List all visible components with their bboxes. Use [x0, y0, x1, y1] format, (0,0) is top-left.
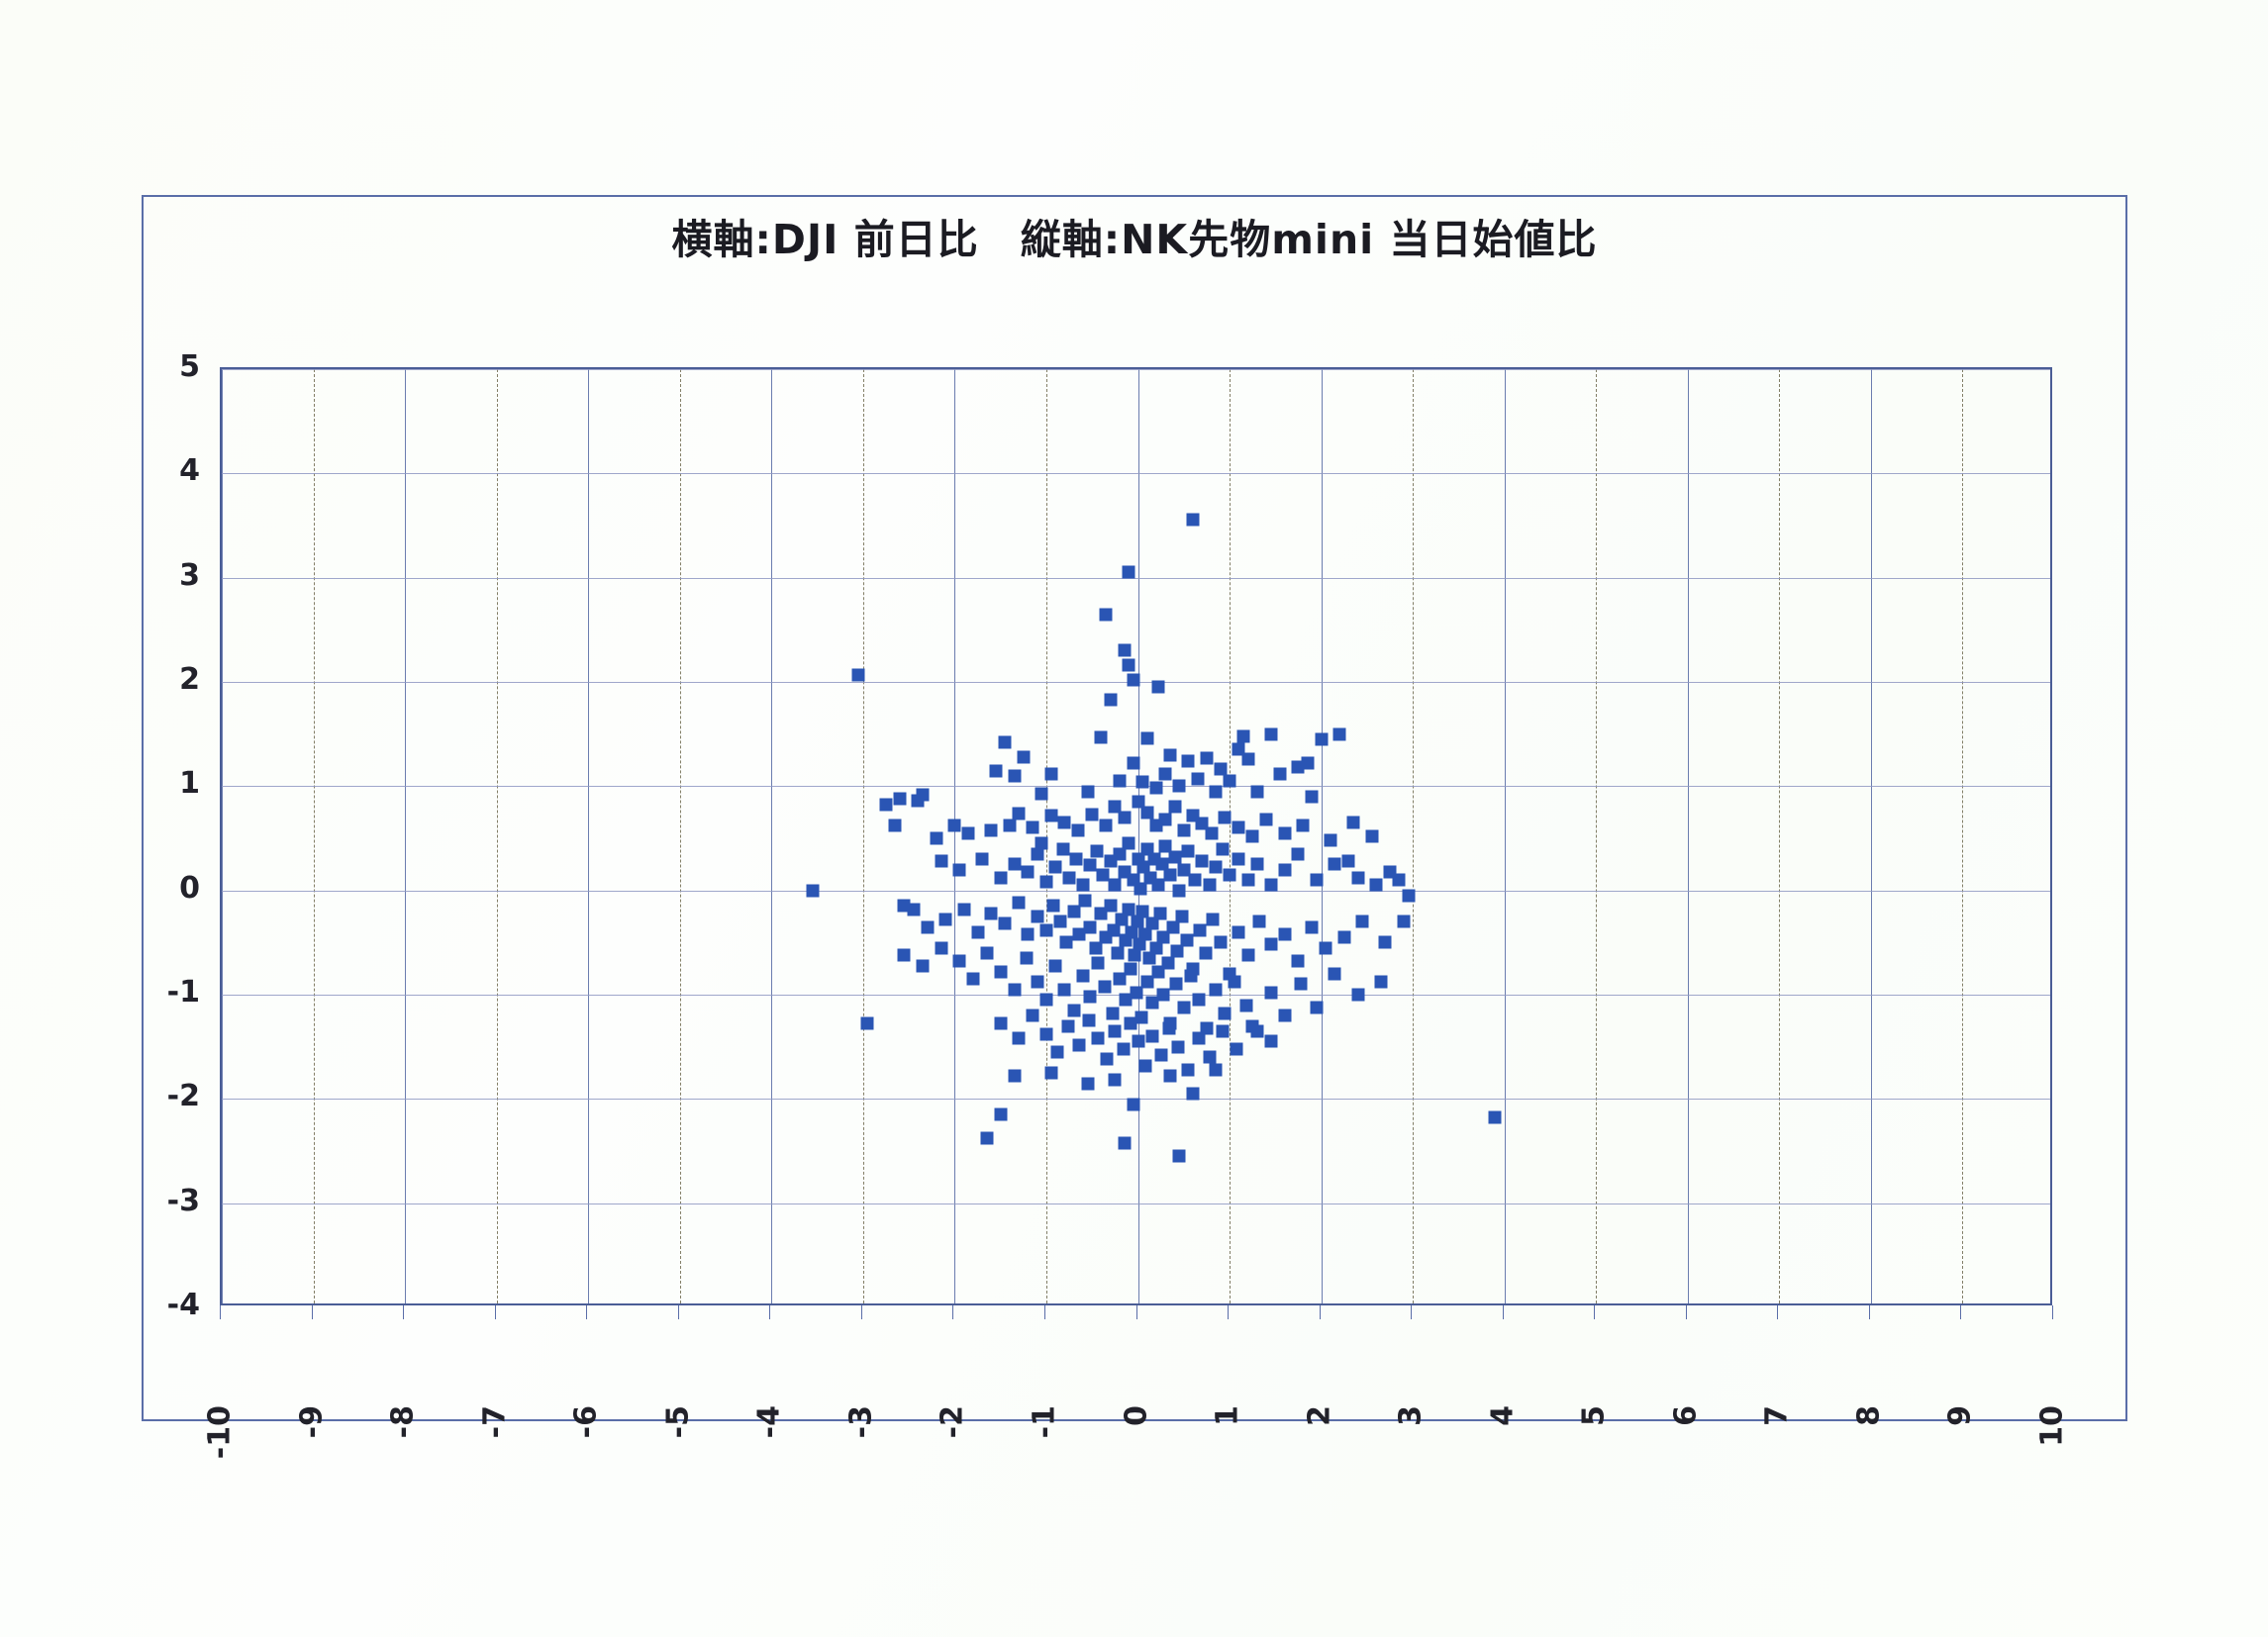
scatter-point — [1076, 879, 1089, 892]
x-axis-tick-label: -1 — [1027, 1405, 1061, 1438]
scatter-point — [1310, 874, 1323, 887]
scatter-point — [1252, 915, 1265, 928]
scatter-point — [1127, 757, 1139, 770]
scatter-point — [1067, 1004, 1080, 1016]
gridline-vertical — [314, 369, 315, 1303]
scatter-point — [1008, 858, 1021, 871]
scatter-point — [1039, 876, 1052, 889]
x-axis-tick-mark — [1594, 1305, 1595, 1319]
scatter-point — [1177, 823, 1190, 836]
scatter-point — [1260, 814, 1273, 826]
scatter-point — [1082, 1014, 1095, 1027]
scatter-point — [1216, 842, 1229, 855]
scatter-point — [1073, 1038, 1086, 1051]
scatter-point — [879, 799, 892, 812]
scatter-point — [999, 917, 1012, 930]
scatter-point — [1157, 989, 1170, 1002]
scatter-point — [1320, 941, 1332, 954]
gridline-vertical — [1413, 369, 1414, 1303]
gridline-vertical — [588, 369, 589, 1303]
y-axis-tick-label: 3 — [131, 558, 200, 593]
gridline-vertical — [954, 369, 955, 1303]
scatter-point — [1049, 959, 1062, 972]
x-axis-tick-label: -10 — [203, 1405, 238, 1459]
x-axis-tick-mark — [1411, 1305, 1412, 1319]
scatter-point — [971, 925, 984, 938]
scatter-point — [1172, 1040, 1185, 1053]
scatter-point — [1132, 1035, 1144, 1048]
gridline-horizontal — [222, 578, 2050, 579]
scatter-point — [1069, 853, 1082, 866]
x-axis-tick-label: 7 — [1760, 1405, 1795, 1426]
scatter-point — [1273, 767, 1286, 780]
scatter-point — [994, 965, 1007, 978]
scatter-point — [1117, 1042, 1130, 1055]
scatter-point — [1278, 927, 1291, 940]
scatter-point — [1241, 948, 1254, 961]
scatter-point — [1306, 920, 1319, 933]
scatter-point — [1210, 861, 1223, 874]
scatter-point — [1109, 879, 1122, 892]
scatter-point — [1049, 861, 1062, 874]
scatter-point — [1329, 967, 1341, 980]
x-axis-tick-mark — [586, 1305, 587, 1319]
gridline-vertical — [1962, 369, 1963, 1303]
scatter-point — [1216, 1024, 1229, 1037]
scatter-point — [1044, 1067, 1057, 1080]
scatter-point — [1224, 868, 1236, 881]
scatter-point — [1210, 1063, 1223, 1076]
scatter-point — [1140, 806, 1153, 818]
scatter-point — [852, 668, 865, 681]
scatter-point — [1056, 842, 1069, 855]
scatter-point — [1168, 850, 1181, 863]
x-axis-tick-mark — [1503, 1305, 1504, 1319]
scatter-point — [966, 973, 979, 986]
scatter-point — [1397, 915, 1410, 928]
scatter-point — [994, 1108, 1007, 1121]
scatter-point — [1374, 976, 1387, 989]
x-axis-tick-mark — [2052, 1305, 2053, 1319]
y-axis-tick-label: -2 — [131, 1079, 200, 1113]
scatter-point — [935, 855, 947, 868]
gridline-vertical — [1138, 369, 1139, 1303]
scatter-point — [1127, 1098, 1139, 1110]
x-axis-tick-mark — [495, 1305, 496, 1319]
scatter-point — [985, 907, 998, 919]
scatter-point — [1384, 865, 1397, 878]
scatter-point — [898, 948, 911, 961]
scatter-point — [1118, 644, 1131, 657]
x-axis-tick-mark — [952, 1305, 953, 1319]
scatter-point — [1278, 863, 1291, 876]
x-axis-tick-label: 4 — [1485, 1405, 1520, 1426]
scatter-point — [1241, 874, 1254, 887]
scatter-point — [1182, 755, 1195, 768]
scatter-point — [1058, 817, 1071, 829]
x-axis-tick-mark — [769, 1305, 770, 1319]
scatter-point — [1231, 1042, 1243, 1055]
scatter-point — [1150, 782, 1163, 795]
scatter-point — [1123, 566, 1135, 579]
x-axis-tick-mark — [1136, 1305, 1137, 1319]
scatter-point — [948, 819, 961, 832]
gridline-vertical — [1322, 369, 1323, 1303]
scatter-point — [1027, 1010, 1039, 1022]
scatter-point — [1173, 884, 1186, 897]
scatter-point — [1091, 1032, 1104, 1045]
scatter-point — [1084, 920, 1097, 933]
scatter-point — [957, 903, 970, 915]
scatter-point — [1233, 821, 1245, 834]
scatter-point — [999, 736, 1012, 749]
scatter-point — [1109, 1024, 1122, 1037]
scatter-point — [1188, 874, 1201, 887]
scatter-point — [1153, 907, 1166, 919]
x-axis-tick-label: 8 — [1851, 1405, 1886, 1426]
scatter-point — [1187, 1088, 1200, 1101]
scatter-point — [1140, 731, 1153, 744]
scatter-point — [1138, 1059, 1151, 1072]
scatter-point — [1053, 915, 1066, 928]
scatter-point — [1205, 826, 1218, 839]
scatter-point — [1264, 986, 1277, 999]
gridline-horizontal — [222, 473, 2050, 474]
chart-title: 横軸:DJI 前日比 縦軸:NK先物mini 当日始値比 — [142, 206, 2127, 265]
scatter-point — [1264, 727, 1277, 740]
x-axis-tick-label: -5 — [660, 1405, 695, 1438]
scatter-point — [1264, 1035, 1277, 1048]
y-axis-tick-label: -4 — [131, 1288, 200, 1322]
scatter-point — [1125, 962, 1137, 975]
scatter-point — [1008, 769, 1021, 782]
scatter-point — [1136, 776, 1149, 789]
scatter-point — [1062, 1019, 1075, 1032]
scatter-point — [1090, 844, 1103, 857]
scatter-point — [1250, 785, 1263, 798]
scatter-point — [1292, 847, 1305, 860]
scatter-point — [953, 863, 966, 876]
scatter-point — [1264, 938, 1277, 951]
scatter-point — [1278, 826, 1291, 839]
x-axis-tick-label: 3 — [1394, 1405, 1429, 1426]
scatter-point — [1295, 978, 1308, 991]
scatter-point — [1039, 994, 1052, 1007]
scatter-point — [980, 946, 993, 959]
scatter-point — [1127, 673, 1139, 686]
x-axis-tick-mark — [312, 1305, 313, 1319]
scatter-point — [1031, 976, 1043, 989]
scatter-point — [1337, 931, 1350, 944]
scatter-point — [1210, 983, 1223, 996]
y-axis-tick-label: -3 — [131, 1184, 200, 1218]
gridline-vertical — [1871, 369, 1872, 1303]
scatter-point — [1017, 750, 1030, 763]
y-axis-tick-label: 0 — [131, 871, 200, 906]
scatter-point — [893, 792, 906, 805]
gridline-vertical — [863, 369, 864, 1303]
scatter-point — [1078, 895, 1091, 908]
gridline-vertical — [1596, 369, 1597, 1303]
scatter-point — [1278, 1010, 1291, 1022]
scatter-point — [1175, 911, 1188, 923]
x-axis-tick-label: 0 — [1119, 1405, 1153, 1426]
scatter-point — [1228, 976, 1240, 989]
scatter-point — [1233, 853, 1245, 866]
scatter-point — [1159, 767, 1172, 780]
scatter-point — [1022, 927, 1035, 940]
scatter-point — [1123, 837, 1135, 850]
scatter-point — [980, 1132, 993, 1145]
scatter-point — [1365, 829, 1378, 842]
scatter-point — [1329, 858, 1341, 871]
x-axis-tick-mark — [1044, 1305, 1045, 1319]
scatter-point — [1136, 905, 1149, 917]
x-axis-tick-mark — [220, 1305, 221, 1319]
scatter-point — [1324, 834, 1336, 847]
gridline-vertical — [1505, 369, 1506, 1303]
scatter-point — [1013, 807, 1026, 819]
scatter-point — [1035, 837, 1048, 850]
scatter-point — [1106, 1007, 1119, 1019]
scatter-point — [1193, 923, 1206, 936]
x-axis-tick-label: -6 — [569, 1405, 604, 1438]
scatter-point — [939, 914, 952, 926]
scatter-plot-area — [220, 367, 2052, 1305]
scatter-point — [1022, 865, 1035, 878]
scatter-point — [1013, 897, 1026, 910]
gridline-vertical — [222, 369, 223, 1303]
scatter-point — [1210, 785, 1223, 798]
scatter-point — [1489, 1111, 1502, 1124]
scatter-point — [1063, 872, 1076, 885]
scatter-point — [1044, 767, 1057, 780]
scatter-point — [806, 884, 819, 897]
scatter-point — [1292, 955, 1305, 968]
x-axis-tick-label: 5 — [1577, 1405, 1612, 1426]
scatter-point — [1076, 970, 1089, 983]
scatter-point — [861, 1017, 874, 1030]
x-axis-tick-label: -2 — [936, 1405, 970, 1438]
x-axis-tick-mark — [1960, 1305, 1961, 1319]
scatter-point — [1191, 772, 1204, 785]
scatter-point — [1072, 823, 1085, 836]
scatter-point — [1224, 775, 1236, 788]
scatter-point — [1146, 1030, 1159, 1043]
scatter-point — [1346, 817, 1359, 829]
x-axis-tick-mark — [1228, 1305, 1229, 1319]
scatter-point — [1159, 814, 1172, 826]
y-axis-tick-label: 2 — [131, 662, 200, 697]
scatter-point — [1035, 787, 1048, 800]
scatter-point — [921, 920, 934, 933]
x-axis-tick-mark — [1320, 1305, 1321, 1319]
scatter-point — [1151, 965, 1164, 978]
scatter-point — [1020, 952, 1033, 965]
gridline-horizontal — [222, 1204, 2050, 1204]
scatter-point — [907, 903, 920, 915]
gridline-horizontal — [222, 369, 2050, 370]
scatter-point — [1351, 989, 1364, 1002]
scatter-point — [1095, 730, 1108, 743]
scatter-point — [1182, 844, 1195, 857]
scatter-point — [1236, 729, 1249, 742]
scatter-point — [994, 872, 1007, 885]
scatter-point — [1060, 936, 1073, 949]
scatter-point — [1044, 809, 1057, 821]
scatter-point — [1246, 829, 1259, 842]
scatter-point — [1013, 1032, 1026, 1045]
scatter-point — [1081, 785, 1094, 798]
x-axis-tick-mark — [1869, 1305, 1870, 1319]
scatter-point — [1100, 819, 1113, 832]
x-axis-tick-mark — [1777, 1305, 1778, 1319]
gridline-vertical — [771, 369, 772, 1303]
scatter-point — [1214, 936, 1227, 949]
scatter-point — [1170, 978, 1183, 991]
scatter-point — [1118, 811, 1131, 823]
scatter-point — [1185, 970, 1198, 983]
scatter-point — [1233, 925, 1245, 938]
scatter-point — [1163, 748, 1176, 761]
scatter-point — [1123, 659, 1135, 672]
scatter-point — [1039, 1028, 1052, 1041]
scatter-point — [917, 788, 930, 801]
scatter-point — [1239, 999, 1252, 1011]
scatter-point — [985, 823, 998, 836]
scatter-point — [1091, 957, 1104, 970]
x-axis-tick-label: -7 — [477, 1405, 512, 1438]
scatter-point — [1168, 801, 1181, 814]
scatter-point — [994, 1017, 1007, 1030]
x-axis-tick-label: -4 — [752, 1405, 787, 1438]
scatter-point — [1297, 819, 1310, 832]
scatter-point — [1027, 821, 1039, 834]
gridline-vertical — [405, 369, 406, 1303]
scatter-point — [1084, 991, 1097, 1004]
x-axis-tick-mark — [678, 1305, 679, 1319]
gridline-vertical — [680, 369, 681, 1303]
scatter-point — [1315, 732, 1328, 745]
scatter-point — [1342, 855, 1355, 868]
scatter-point — [1058, 983, 1071, 996]
scatter-point — [1306, 790, 1319, 803]
scatter-point — [935, 941, 947, 954]
scatter-point — [1031, 911, 1043, 923]
scatter-point — [1379, 936, 1392, 949]
scatter-point — [1207, 914, 1220, 926]
scatter-point — [1246, 1019, 1259, 1032]
scatter-point — [1182, 1063, 1195, 1076]
scatter-point — [1008, 1070, 1021, 1083]
scatter-point — [1151, 681, 1164, 694]
scatter-point — [1199, 946, 1212, 959]
y-axis-tick-label: -1 — [131, 975, 200, 1010]
scatter-point — [1154, 1049, 1167, 1062]
scatter-point — [1125, 1017, 1137, 1030]
x-axis-tick-mark — [403, 1305, 404, 1319]
scanned-chart-page: 横軸:DJI 前日比 縦軸:NK先物mini 当日始値比 543210-1-2-… — [0, 0, 2268, 1637]
scatter-point — [990, 764, 1003, 777]
x-axis-tick-label: 2 — [1302, 1405, 1336, 1426]
scatter-point — [953, 955, 966, 968]
scatter-point — [1099, 980, 1112, 993]
scatter-point — [1351, 872, 1364, 885]
scatter-point — [1081, 1077, 1094, 1090]
scatter-point — [1104, 693, 1117, 706]
scatter-point — [1402, 889, 1415, 902]
scatter-point — [1039, 923, 1052, 936]
scatter-point — [1333, 727, 1346, 740]
x-axis-tick-label: -9 — [294, 1405, 329, 1438]
scatter-point — [1084, 859, 1097, 872]
scatter-point — [1310, 1001, 1323, 1013]
scatter-point — [1264, 879, 1277, 892]
scatter-point — [1163, 868, 1176, 881]
scatter-point — [889, 819, 902, 832]
scatter-point — [917, 959, 930, 972]
scatter-point — [1219, 811, 1232, 823]
scatter-point — [1203, 879, 1216, 892]
scatter-point — [1196, 855, 1209, 868]
scatter-point — [1135, 1011, 1148, 1024]
scatter-point — [1104, 900, 1117, 913]
scatter-point — [1356, 915, 1369, 928]
y-axis-tick-label: 4 — [131, 453, 200, 488]
x-axis-tick-label: -3 — [843, 1405, 878, 1438]
scatter-point — [1123, 903, 1135, 915]
scatter-point — [1301, 757, 1314, 770]
scatter-point — [1370, 879, 1383, 892]
scatter-point — [1100, 608, 1113, 621]
x-axis-tick-label: 1 — [1211, 1405, 1245, 1426]
scatter-point — [1192, 1032, 1205, 1045]
scatter-point — [1101, 1053, 1114, 1066]
x-axis-tick-mark — [1686, 1305, 1687, 1319]
x-axis-tick-mark — [861, 1305, 862, 1319]
scatter-point — [1109, 1074, 1122, 1087]
x-axis-tick-label: -8 — [386, 1405, 421, 1438]
y-axis-tick-label: 1 — [131, 766, 200, 801]
scatter-point — [930, 832, 942, 845]
scatter-point — [1203, 1051, 1216, 1064]
scatter-point — [1086, 808, 1099, 820]
scatter-point — [1177, 1001, 1190, 1013]
scatter-point — [1192, 994, 1205, 1007]
scatter-point — [962, 826, 975, 839]
scatter-point — [1162, 1021, 1175, 1034]
scatter-point — [1112, 946, 1125, 959]
scatter-point — [1008, 983, 1021, 996]
scatter-point — [1047, 900, 1060, 913]
scatter-point — [976, 853, 989, 866]
scatter-point — [1163, 1070, 1176, 1083]
scatter-point — [1241, 752, 1254, 765]
scatter-point — [1173, 1150, 1186, 1163]
scatter-point — [1219, 1007, 1232, 1019]
scatter-point — [1173, 780, 1186, 793]
scatter-point — [1200, 751, 1213, 764]
gridline-vertical — [497, 369, 498, 1303]
scatter-point — [1003, 819, 1016, 832]
scatter-point — [1113, 775, 1126, 788]
y-axis-tick-label: 5 — [131, 349, 200, 384]
gridline-vertical — [1779, 369, 1780, 1303]
x-axis-tick-label: 10 — [2035, 1405, 2070, 1447]
x-axis-tick-label: 6 — [1668, 1405, 1703, 1426]
scatter-point — [1051, 1045, 1064, 1058]
scatter-point — [1250, 858, 1263, 871]
